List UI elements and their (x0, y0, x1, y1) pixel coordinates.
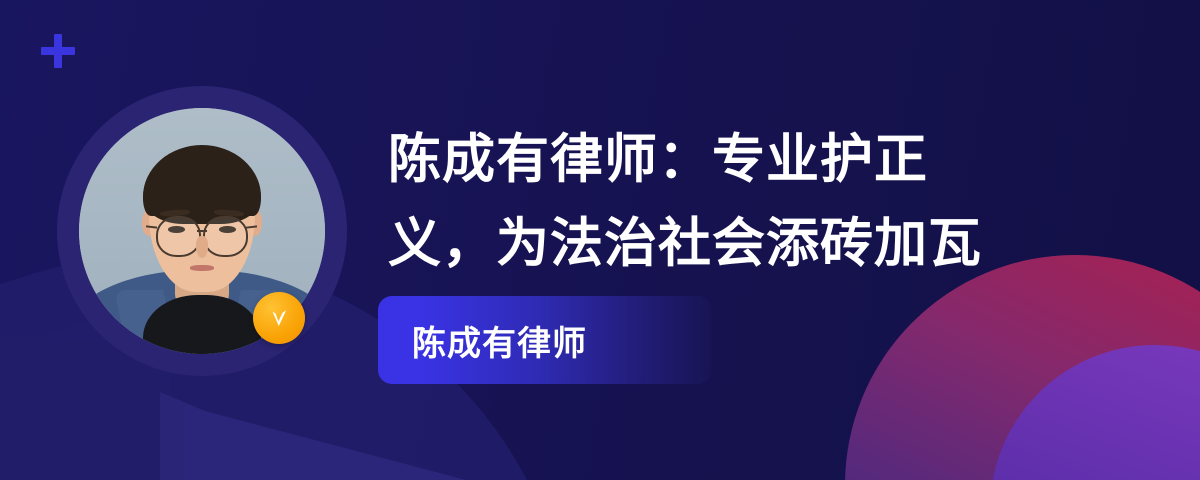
profile-banner: 陈成有律师：专业护正 义，为法治社会添砖加瓦 陈成有律师 (0, 0, 1200, 480)
avatar[interactable] (57, 86, 347, 376)
headline-line-1: 陈成有律师：专业护正 (388, 118, 1178, 202)
headline-line-2: 义，为法治社会添砖加瓦 (388, 202, 1178, 286)
author-name-chip[interactable]: 陈成有律师 (378, 296, 712, 384)
page-title: 陈成有律师：专业护正 义，为法治社会添砖加瓦 (388, 118, 1178, 286)
verified-v-icon (253, 292, 305, 344)
author-name-label: 陈成有律师 (412, 316, 587, 365)
plus-icon (41, 34, 75, 68)
